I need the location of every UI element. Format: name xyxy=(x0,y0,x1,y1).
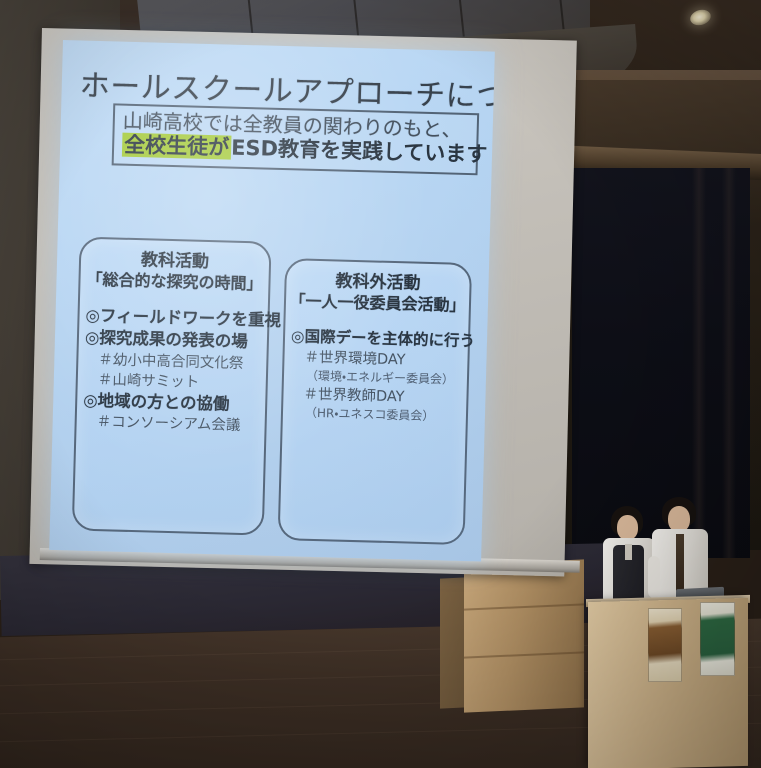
right-content-box: 教科外活動 「一人一役委員会活動」 ◎国際デーを主体的に行う ＃世界環境DAY … xyxy=(278,258,473,545)
left-box-heading-group: 教科活動 「総合的な探究の時間」 xyxy=(80,249,269,296)
presentation-photo-scene: ホールスクールアプローチについて 山崎高校では全教員の関わりのもと、 全校生徒が… xyxy=(0,0,761,768)
presenter-left-tie xyxy=(625,544,632,560)
right-box-bullets: ◎国際デーを主体的に行う ＃世界環境DAY （環境・エネルギー委員会） ＃世界教… xyxy=(283,326,468,425)
stage-curtain xyxy=(572,168,750,558)
left-content-box: 教科活動 「総合的な探究の時間」 ◎フィールドワークを重視 ◎探究成果の発表の場… xyxy=(72,237,272,536)
right-box-subheading: 「一人一役委員会活動」 xyxy=(286,291,469,317)
stage-cabinet xyxy=(464,559,584,712)
right-box-heading-group: 教科外活動 「一人一役委員会活動」 xyxy=(286,270,470,317)
poster-green xyxy=(700,602,735,676)
left-box-subheading: 「総合的な探究の時間」 xyxy=(80,270,268,296)
presenter-right-tie xyxy=(676,534,684,592)
subtitle-highlight: 全校生徒が xyxy=(122,133,232,160)
list-item: （HR・ユネスコ委員会） xyxy=(305,404,462,425)
left-box-bullets: ◎フィールドワークを重視 ◎探究成果の発表の場 ＃幼小中高合同文化祭 ＃山崎サミ… xyxy=(76,305,267,437)
presenter-right-arm xyxy=(648,556,660,598)
projected-slide: ホールスクールアプローチについて 山崎高校では全教員の関わりのもと、 全校生徒が… xyxy=(49,40,495,561)
slide-subtitle-box: 山崎高校では全教員の関わりのもと、 全校生徒がESD教育を実践しています xyxy=(112,103,480,174)
poster-brown xyxy=(648,608,682,682)
list-item: ＃コンソーシアム会議 xyxy=(96,412,260,436)
presenter-left-head xyxy=(617,515,638,540)
stage-cabinet-side xyxy=(440,577,466,708)
